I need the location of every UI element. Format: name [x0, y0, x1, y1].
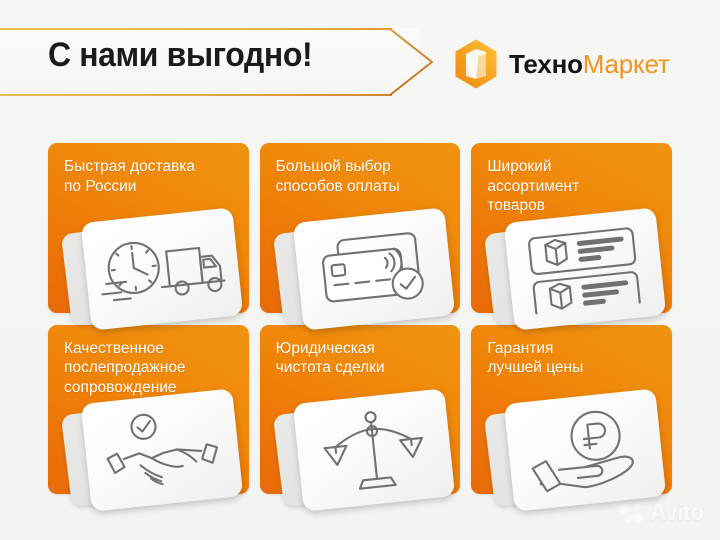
benefit-card-best-price[interactable]: Гарантия лучшей цены — [471, 325, 672, 495]
benefit-card-legal-purity[interactable]: Юридическая чистота сделки — [260, 325, 461, 495]
avito-watermark-label: Avito — [650, 499, 704, 526]
benefit-card-after-sales[interactable]: Качественное послепродажное сопровождени… — [48, 325, 249, 495]
credit-card-check-icon — [310, 224, 437, 312]
product-list-boxes-icon — [520, 222, 650, 314]
avito-dots-icon — [619, 502, 645, 524]
card-title: Юридическая чистота сделки — [276, 339, 451, 378]
note-card-front — [504, 207, 666, 330]
hexagon-logo-icon — [452, 38, 500, 90]
avito-watermark: Avito — [619, 499, 704, 526]
note-card-front — [504, 388, 666, 511]
brand-wordmark: ТехноМаркет — [509, 49, 670, 80]
note-card-front — [292, 207, 454, 330]
brand-name-accent: Маркет — [583, 49, 670, 79]
note-card-front — [292, 388, 454, 511]
card-title: Качественное послепродажное сопровождени… — [64, 339, 239, 398]
clock-truck-icon — [93, 225, 230, 312]
note-card-front — [81, 388, 243, 511]
brand-logo[interactable]: ТехноМаркет — [452, 38, 670, 90]
card-title: Большой выбор способов оплаты — [276, 157, 451, 196]
page-title: С нами выгодно! — [48, 36, 312, 75]
banner-chevron-icon — [388, 24, 448, 100]
brand-name-dark: Техно — [509, 49, 583, 79]
poster-canvas: С нами выгодно! — [0, 0, 720, 540]
benefit-card-payment-methods[interactable]: Большой выбор способов оплаты — [260, 143, 461, 313]
benefits-grid: Быстрая доставка по России — [48, 143, 672, 494]
banner-top-border — [0, 28, 392, 30]
card-title: Широкий ассортимент товаров — [487, 157, 662, 216]
note-card-front — [81, 207, 243, 330]
benefit-card-wide-assortment[interactable]: Широкий ассортимент товаров — [471, 143, 672, 313]
banner-bottom-border — [0, 94, 392, 96]
header: С нами выгодно! — [0, 0, 720, 120]
card-title: Быстрая доставка по России — [64, 157, 239, 196]
hand-ruble-coin-icon — [522, 405, 649, 495]
benefit-card-fast-delivery[interactable]: Быстрая доставка по России — [48, 143, 249, 313]
handshake-check-icon — [95, 405, 228, 496]
scales-justice-icon — [318, 404, 430, 496]
card-title: Гарантия лучшей цены — [487, 339, 662, 378]
